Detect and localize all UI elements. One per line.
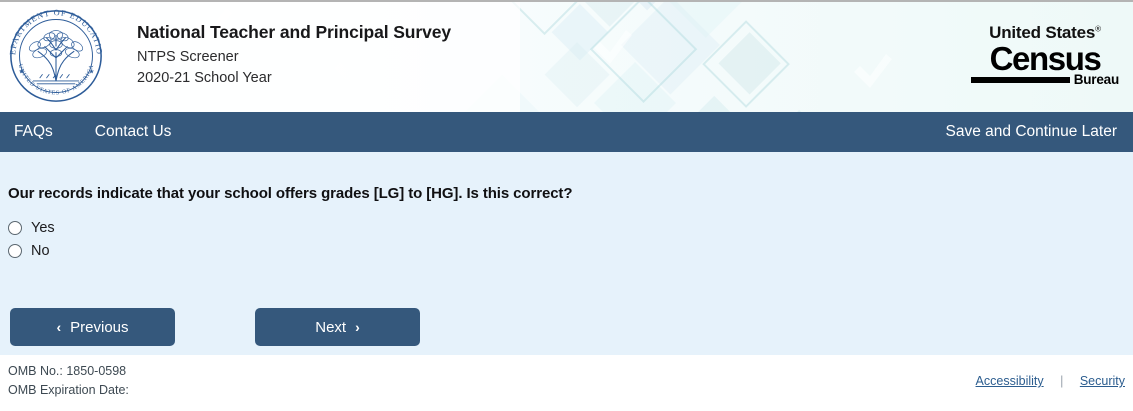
previous-button[interactable]: ‹ Previous — [10, 308, 175, 346]
svg-text:★: ★ — [19, 67, 25, 75]
footer-link-separator: | — [1047, 374, 1076, 388]
question-text: Our records indicate that your school of… — [8, 152, 1125, 202]
page-footer: OMB No.: 1850-0598 OMB Expiration Date: … — [0, 355, 1133, 408]
survey-content: Our records indicate that your school of… — [0, 152, 1133, 355]
svg-text:★: ★ — [89, 67, 95, 75]
previous-button-label: Previous — [70, 319, 128, 336]
nav-right-group: Save and Continue Later — [940, 123, 1123, 141]
accessibility-link[interactable]: Accessibility — [976, 374, 1044, 388]
survey-title-block: National Teacher and Principal Survey NT… — [137, 22, 451, 89]
census-logo-us-text: United States — [989, 23, 1095, 42]
omb-info: OMB No.: 1850-0598 OMB Expiration Date: — [8, 362, 129, 408]
survey-page: DEPARTMENT OF EDUCATION UNITED STATES OF… — [0, 0, 1133, 411]
radio-option-yes[interactable]: Yes — [8, 216, 1125, 239]
radio-label-yes[interactable]: Yes — [31, 220, 55, 236]
omb-expiration-date: OMB Expiration Date: — [8, 381, 129, 400]
footer-links: Accessibility | Security — [976, 374, 1125, 408]
department-of-education-seal-icon: DEPARTMENT OF EDUCATION UNITED STATES OF… — [8, 8, 104, 104]
chevron-right-icon: › — [355, 319, 360, 335]
registered-trademark-icon: ® — [1095, 24, 1101, 33]
security-link[interactable]: Security — [1080, 374, 1125, 388]
nav-link-faqs[interactable]: FAQs — [8, 123, 59, 141]
radio-button-no[interactable] — [8, 244, 22, 258]
nav-left-group: FAQs Contact Us — [8, 123, 177, 141]
page-title: National Teacher and Principal Survey — [137, 22, 451, 42]
radio-label-no[interactable]: No — [31, 243, 50, 259]
census-logo-census-text: Census — [971, 43, 1119, 75]
census-logo-bar — [971, 77, 1070, 83]
nav-link-contact-us[interactable]: Contact Us — [89, 123, 178, 141]
chevron-left-icon: ‹ — [56, 319, 61, 335]
navigation-buttons: ‹ Previous Next › — [10, 308, 420, 346]
navigation-bar: FAQs Contact Us Save and Continue Later — [0, 112, 1133, 152]
radio-option-no[interactable]: No — [8, 239, 1125, 262]
page-header: DEPARTMENT OF EDUCATION UNITED STATES OF… — [0, 2, 1133, 112]
save-and-continue-later-button[interactable]: Save and Continue Later — [940, 123, 1123, 140]
survey-subtitle: NTPS Screener — [137, 47, 451, 68]
radio-button-yes[interactable] — [8, 221, 22, 235]
census-logo-bureau-text: Bureau — [1074, 73, 1119, 87]
survey-school-year: 2020-21 School Year — [137, 68, 451, 89]
us-census-bureau-logo: United States® Census Bureau — [971, 24, 1119, 87]
answer-options-group: Yes No — [8, 216, 1125, 262]
next-button-label: Next — [315, 319, 346, 336]
next-button[interactable]: Next › — [255, 308, 420, 346]
omb-number: OMB No.: 1850-0598 — [8, 362, 129, 381]
census-logo-united-states: United States® — [989, 24, 1101, 41]
